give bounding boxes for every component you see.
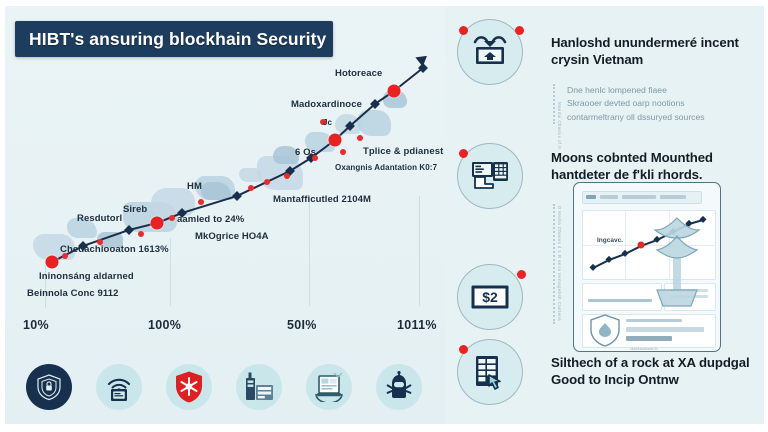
chart-annotation: Mantafficutled 2104M (273, 194, 371, 205)
x-axis-tick-label: 1011% (397, 318, 437, 332)
accent-dot (517, 270, 526, 279)
accent-dot (340, 149, 346, 155)
data-point-highlight (151, 217, 164, 230)
infographic-canvas: HotoreaceMadoxardinoceJcTplice & pdianes… (0, 0, 768, 432)
chart-annotation: Resdutorl (77, 213, 122, 224)
vertical-caption-2: Mandal Charnis of tr (557, 102, 562, 150)
x-axis-tick-label: 50I% (287, 318, 317, 332)
page-title: HIBT's ansuring blockhain Security (15, 21, 333, 57)
toolbar-seg (600, 195, 618, 199)
gridline (419, 196, 420, 306)
footer-line (626, 336, 672, 341)
device-chart-label: Ingcavc. (597, 237, 623, 244)
bottom-icon-row (10, 358, 450, 420)
shield-lock-icon[interactable] (26, 364, 72, 410)
data-point-highlight (46, 256, 59, 269)
page-title-text: HIBT's ansuring blockhain Security (29, 29, 326, 50)
accent-dot (459, 149, 468, 158)
plant-decoration-icon (633, 200, 721, 310)
chart-annotation: Oxangnis Adantation K0:7 (335, 163, 437, 172)
device-caption: skatrkzsalssab.th (630, 347, 658, 351)
toolbar-seg (660, 195, 686, 199)
x-axis-tick-label: 100% (148, 318, 181, 332)
toolbar-dot (586, 195, 596, 199)
accent-dot (264, 179, 270, 185)
svg-text:$2: $2 (482, 289, 498, 305)
info-heading-1: Hanloshd unundermeré incent crysin Vietn… (551, 34, 756, 69)
accent-dot (515, 26, 524, 35)
robot-icon[interactable] (376, 364, 422, 410)
toolbar-seg (622, 195, 656, 199)
accent-dot (459, 26, 468, 35)
accent-dot (459, 345, 468, 354)
info-body-1: Dne henlc lompened fiaee Skraooer devted… (567, 84, 762, 124)
chart-annotation: Tplice & pdianest (363, 146, 443, 157)
footer-line (626, 327, 704, 332)
laptop-document-icon[interactable] (306, 364, 352, 410)
accent-dot (198, 199, 204, 205)
info-heading-2: Moons cobnted Mounthed hantdeter de f'kl… (551, 149, 756, 184)
gridline (170, 238, 171, 306)
chart-annotation: Jc (323, 118, 332, 127)
chart-annotation: aamled to 24% (177, 214, 244, 225)
chart-annotation: MkOgrice HO4A (195, 231, 269, 242)
accent-dot (284, 173, 290, 179)
data-point-highlight (329, 134, 342, 147)
server-rack-icon[interactable] (236, 364, 282, 410)
red-shield-virus-icon[interactable] (166, 364, 212, 410)
accent-dot (138, 231, 144, 237)
footer-line (626, 319, 682, 322)
chart-annotation: Chedachiooaton 1613% (60, 244, 169, 255)
frame-edge-right (764, 0, 768, 432)
info-heading-4: Silthech of a rock at XA dupdgal Good to… (551, 354, 751, 389)
x-axis-tick-label: 10% (23, 318, 49, 332)
chart-annotation: Hotoreace (335, 68, 382, 79)
line-arrowhead (415, 51, 430, 67)
accent-dot (357, 135, 363, 141)
accent-dot (169, 215, 175, 221)
chart-annotation: Beinnola Conc 9112 (27, 288, 119, 299)
shield-badge-icon (588, 313, 622, 347)
chart-annotation: 6 Os (295, 147, 316, 158)
data-point-highlight (388, 85, 401, 98)
right-info-panel: Hanloshd unundermeré incent crysin Vietn… (445, 6, 764, 424)
chart-annotation: Ininonsáng aldarned (39, 271, 134, 282)
banknote-icon[interactable]: $2 (457, 264, 523, 330)
chart-panel: HotoreaceMadoxardinoceJcTplice & pdianes… (5, 6, 445, 424)
chart-annotation: HM (187, 181, 202, 192)
map-shape (239, 168, 261, 182)
wifi-device-icon[interactable] (96, 364, 142, 410)
vertical-caption: D Media Chanes d 1 R anca termagebsh Can… (557, 206, 562, 321)
frame-edge-bottom (0, 424, 768, 432)
accent-dot (248, 185, 254, 191)
chart-annotation: Madoxardinoce (291, 99, 362, 110)
chart-annotation: Sireb (123, 204, 147, 215)
gridline (309, 196, 310, 306)
